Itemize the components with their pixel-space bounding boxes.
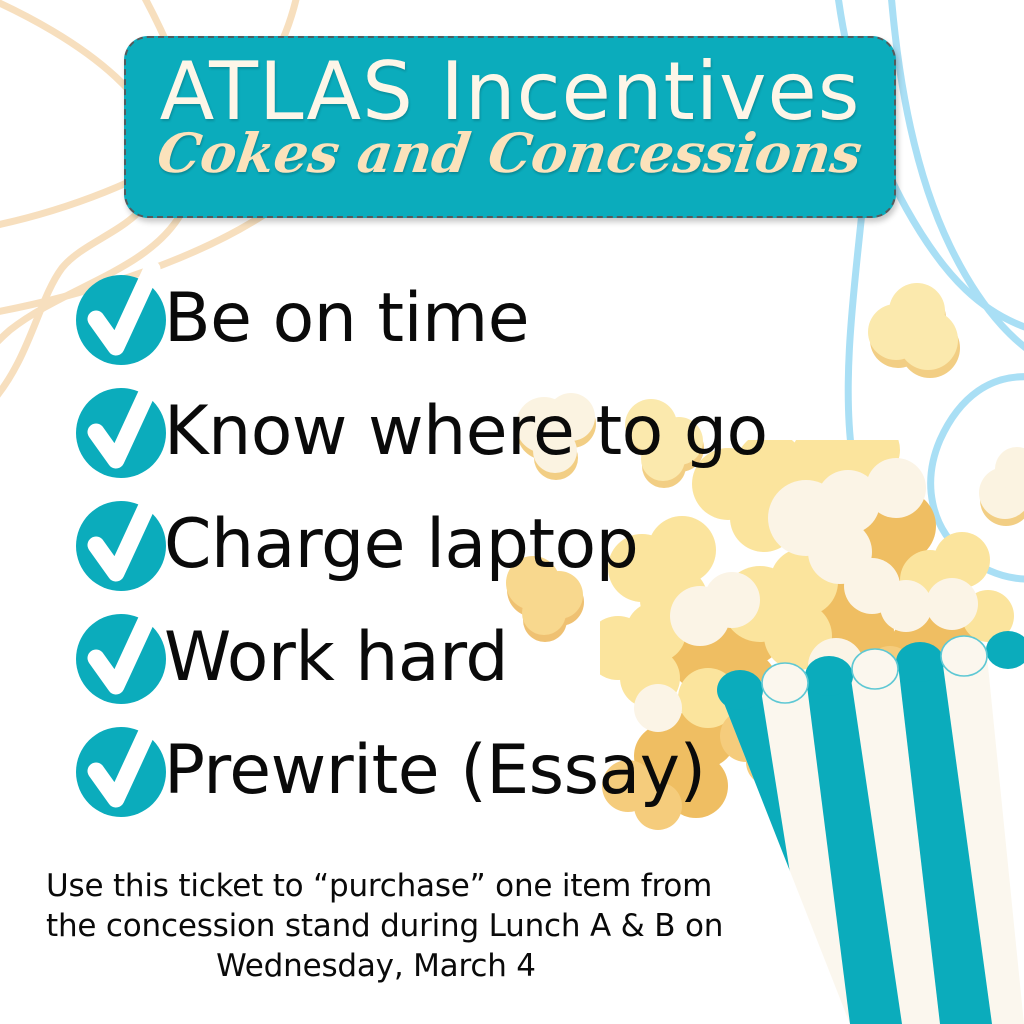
check-circle-icon [72,271,168,367]
poster-canvas: ATLAS Incentives Cokes and Concessions B… [0,0,1024,1024]
header-banner: ATLAS Incentives Cokes and Concessions [124,36,896,218]
checklist-item-label: Charge laptop [164,509,638,581]
footer-line-1: Use this ticket to “purchase” one item f… [46,866,706,906]
banner-subtitle: Cokes and Concessions [154,124,865,182]
check-circle-icon [72,723,168,819]
incentives-checklist: Be on time Know where to go Charge lapto… [72,262,972,827]
kernel-right-edge [979,447,1024,526]
check-circle-icon [72,384,168,480]
check-circle-icon [72,610,168,706]
check-circle-icon [72,497,168,593]
checklist-item[interactable]: Work hard [72,601,972,714]
checklist-item[interactable]: Prewrite (Essay) [72,714,972,827]
footer-line-2: the concession stand during Lunch A & B … [46,906,706,946]
footer-line-3: Wednesday, March 4 [46,946,706,986]
checklist-item-label: Be on time [164,283,529,355]
checklist-item-label: Work hard [164,622,508,694]
checklist-item[interactable]: Be on time [72,262,972,375]
checklist-item-label: Prewrite (Essay) [164,735,705,807]
checklist-item-label: Know where to go [164,396,768,468]
checklist-item[interactable]: Know where to go [72,375,972,488]
footer-instructions: Use this ticket to “purchase” one item f… [46,866,706,986]
checklist-item[interactable]: Charge laptop [72,488,972,601]
